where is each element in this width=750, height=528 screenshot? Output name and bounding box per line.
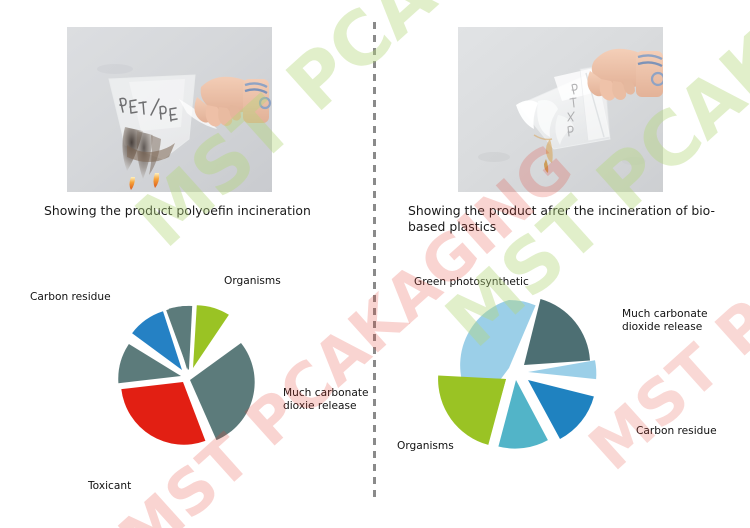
pie-right-label-green-photosynthetic: Green photosynthetic (414, 276, 529, 289)
vertical-dashed-divider (373, 22, 376, 500)
panel-biobased: Showing the product afrer the incinerati… (375, 0, 750, 528)
caption-polyolefin: Showing the product polyoefin incinerati… (44, 203, 364, 219)
pie-right-label-carbon-residue: Carbon residue (636, 425, 717, 438)
pie-slice-toxicant (121, 382, 205, 445)
pie-left-label-organisms: Organisms (224, 275, 281, 288)
pie-chart-biobased: Green photosynthetic Much carbonate diox… (375, 252, 750, 512)
pie-left-label-carbon-residue: Carbon residue (30, 291, 111, 304)
pie-left-label-toxicant: Toxicant (88, 480, 131, 493)
pie-right-label-organisms: Organisms (397, 440, 454, 453)
pie-right-label-carbonate: Much carbonate dioxide release (622, 308, 718, 334)
caption-biobased: Showing the product afrer the incinerati… (408, 203, 738, 235)
pie-chart-polyolefin: Organisms Much carbonate dioxie release … (0, 252, 375, 512)
pie-slice-organisms-b (438, 376, 506, 445)
photo-biobased-incineration (458, 27, 663, 192)
pie-left-label-carbonate: Much carbonate dioxie release (283, 387, 375, 413)
photo-polyolefin-incineration (67, 27, 272, 192)
panel-polyolefin: Showing the product polyoefin incinerati… (0, 0, 375, 528)
